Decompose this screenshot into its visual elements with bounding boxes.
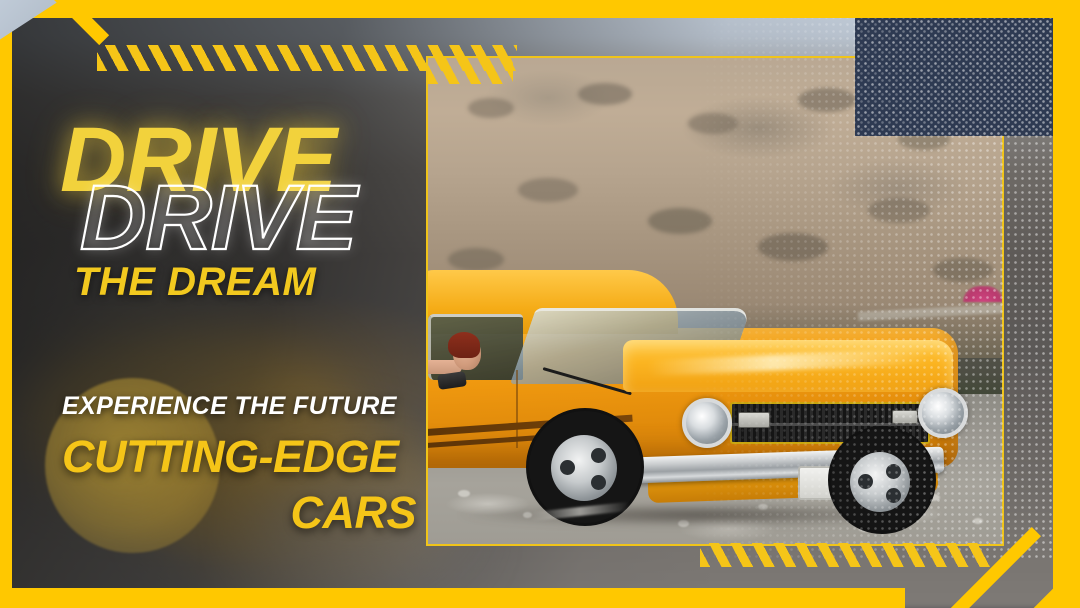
classic-car <box>428 220 1002 520</box>
hazard-stripes-bottom <box>700 543 990 567</box>
feature-line-two: CARS <box>62 487 422 539</box>
feature-line-one: CUTTING-EDGE <box>62 431 422 483</box>
frame-border-bottom <box>0 588 905 608</box>
halftone-dot-panel <box>855 18 1055 136</box>
feature-group: EXPERIENCE THE FUTURE CUTTING-EDGE CARS <box>62 392 422 539</box>
frame-border-left <box>0 0 12 608</box>
headline-outline: DRIVE <box>80 176 356 261</box>
wheel-rim <box>551 435 617 501</box>
turn-signal <box>892 410 918 424</box>
headlight <box>918 388 968 438</box>
driver-hair <box>448 332 480 358</box>
wheel-rim <box>850 452 910 512</box>
turn-signal <box>738 412 770 428</box>
banner-canvas: DRIVE DRIVE THE DREAM EXPERIENCE THE FUT… <box>0 0 1080 608</box>
eyebrow-text: EXPERIENCE THE FUTURE <box>62 392 422 421</box>
headline-subtitle: THE DREAM <box>74 260 316 305</box>
headline-group: DRIVE DRIVE THE DREAM <box>60 118 440 203</box>
frame-border-top <box>0 0 1080 18</box>
hazard-stripes-photo <box>428 58 513 84</box>
frame-border-right <box>1053 0 1080 608</box>
headlight <box>682 398 732 448</box>
